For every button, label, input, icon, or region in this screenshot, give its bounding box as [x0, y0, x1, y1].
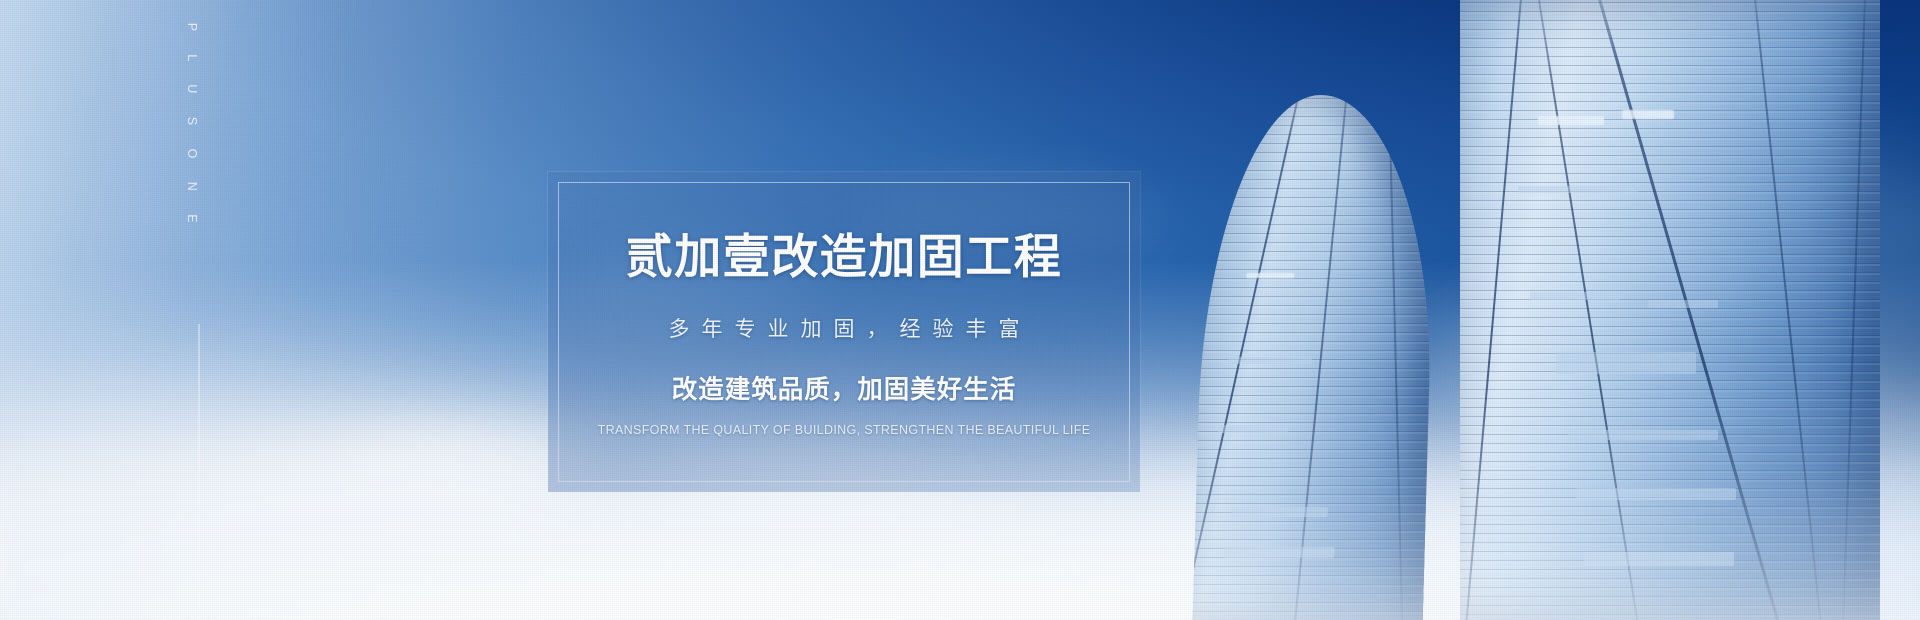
- tower-right: [1460, 0, 1880, 620]
- slogan-english: TRANSFORM THE QUALITY OF BUILDING, STREN…: [598, 423, 1091, 437]
- hero-banner: T W O P L U S O N E 1 贰加壹改造加固工程 多年专业加固，经…: [0, 0, 1920, 620]
- page-title: 贰加壹改造加固工程: [626, 233, 1063, 280]
- vertical-divider-line: [199, 324, 200, 620]
- page-subtitle: 多年专业加固，经验丰富: [657, 313, 1032, 343]
- tower-left: [1193, 95, 1438, 620]
- headline-panel: 贰加壹改造加固工程 多年专业加固，经验丰富 改造建筑品质，加固美好生活 TRAN…: [548, 172, 1140, 492]
- vertical-brand-strip: T W O P L U S O N E: [186, 78, 212, 598]
- vertical-brand-text: T W O P L U S O N E: [185, 0, 199, 233]
- headline-panel-content: 贰加壹改造加固工程 多年专业加固，经验丰富 改造建筑品质，加固美好生活 TRAN…: [548, 172, 1140, 492]
- slogan-chinese: 改造建筑品质，加固美好生活: [672, 369, 1017, 406]
- skyscraper-photo: [1160, 0, 1920, 620]
